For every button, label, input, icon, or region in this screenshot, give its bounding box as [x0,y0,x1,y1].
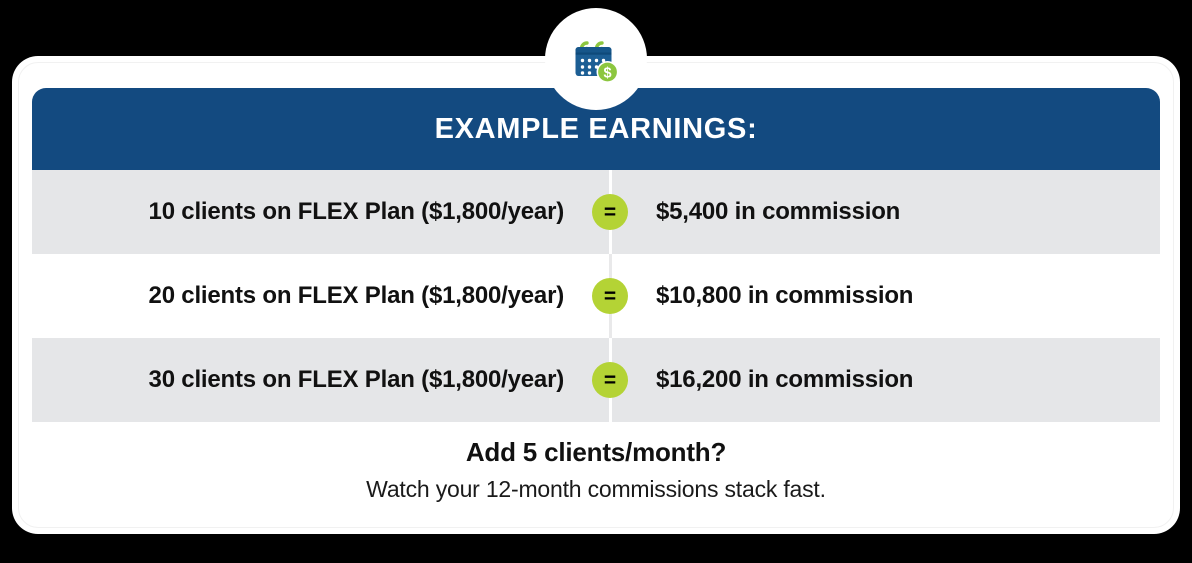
row-left-label: 20 clients on FLEX Plan ($1,800/year) [32,282,592,310]
example-earnings-card: EXAMPLE EARNINGS: 10 clients on FLEX Pla… [12,56,1180,534]
calendar-dollar-icon: $ [545,8,647,110]
table-row: 10 clients on FLEX Plan ($1,800/year) = … [32,170,1160,254]
equals-badge: = [592,194,628,230]
table-row: 20 clients on FLEX Plan ($1,800/year) = … [32,254,1160,338]
footer-subtext: Watch your 12-month commissions stack fa… [366,476,826,503]
card-footer: Add 5 clients/month? Watch your 12-month… [32,422,1160,518]
screenshot-stage: EXAMPLE EARNINGS: 10 clients on FLEX Pla… [0,0,1192,563]
row-left-label: 30 clients on FLEX Plan ($1,800/year) [32,366,592,394]
row-right-label: $16,200 in commission [656,366,913,394]
equals-badge: = [592,278,628,314]
equals-badge: = [592,362,628,398]
table-row: 30 clients on FLEX Plan ($1,800/year) = … [32,338,1160,422]
page-title: EXAMPLE EARNINGS: [435,113,758,146]
row-left-label: 10 clients on FLEX Plan ($1,800/year) [32,198,592,226]
row-right-label: $5,400 in commission [656,198,900,226]
earnings-table: 10 clients on FLEX Plan ($1,800/year) = … [32,170,1160,422]
footer-headline: Add 5 clients/month? [466,437,726,468]
svg-text:$: $ [603,66,611,82]
row-right-label: $10,800 in commission [656,282,913,310]
